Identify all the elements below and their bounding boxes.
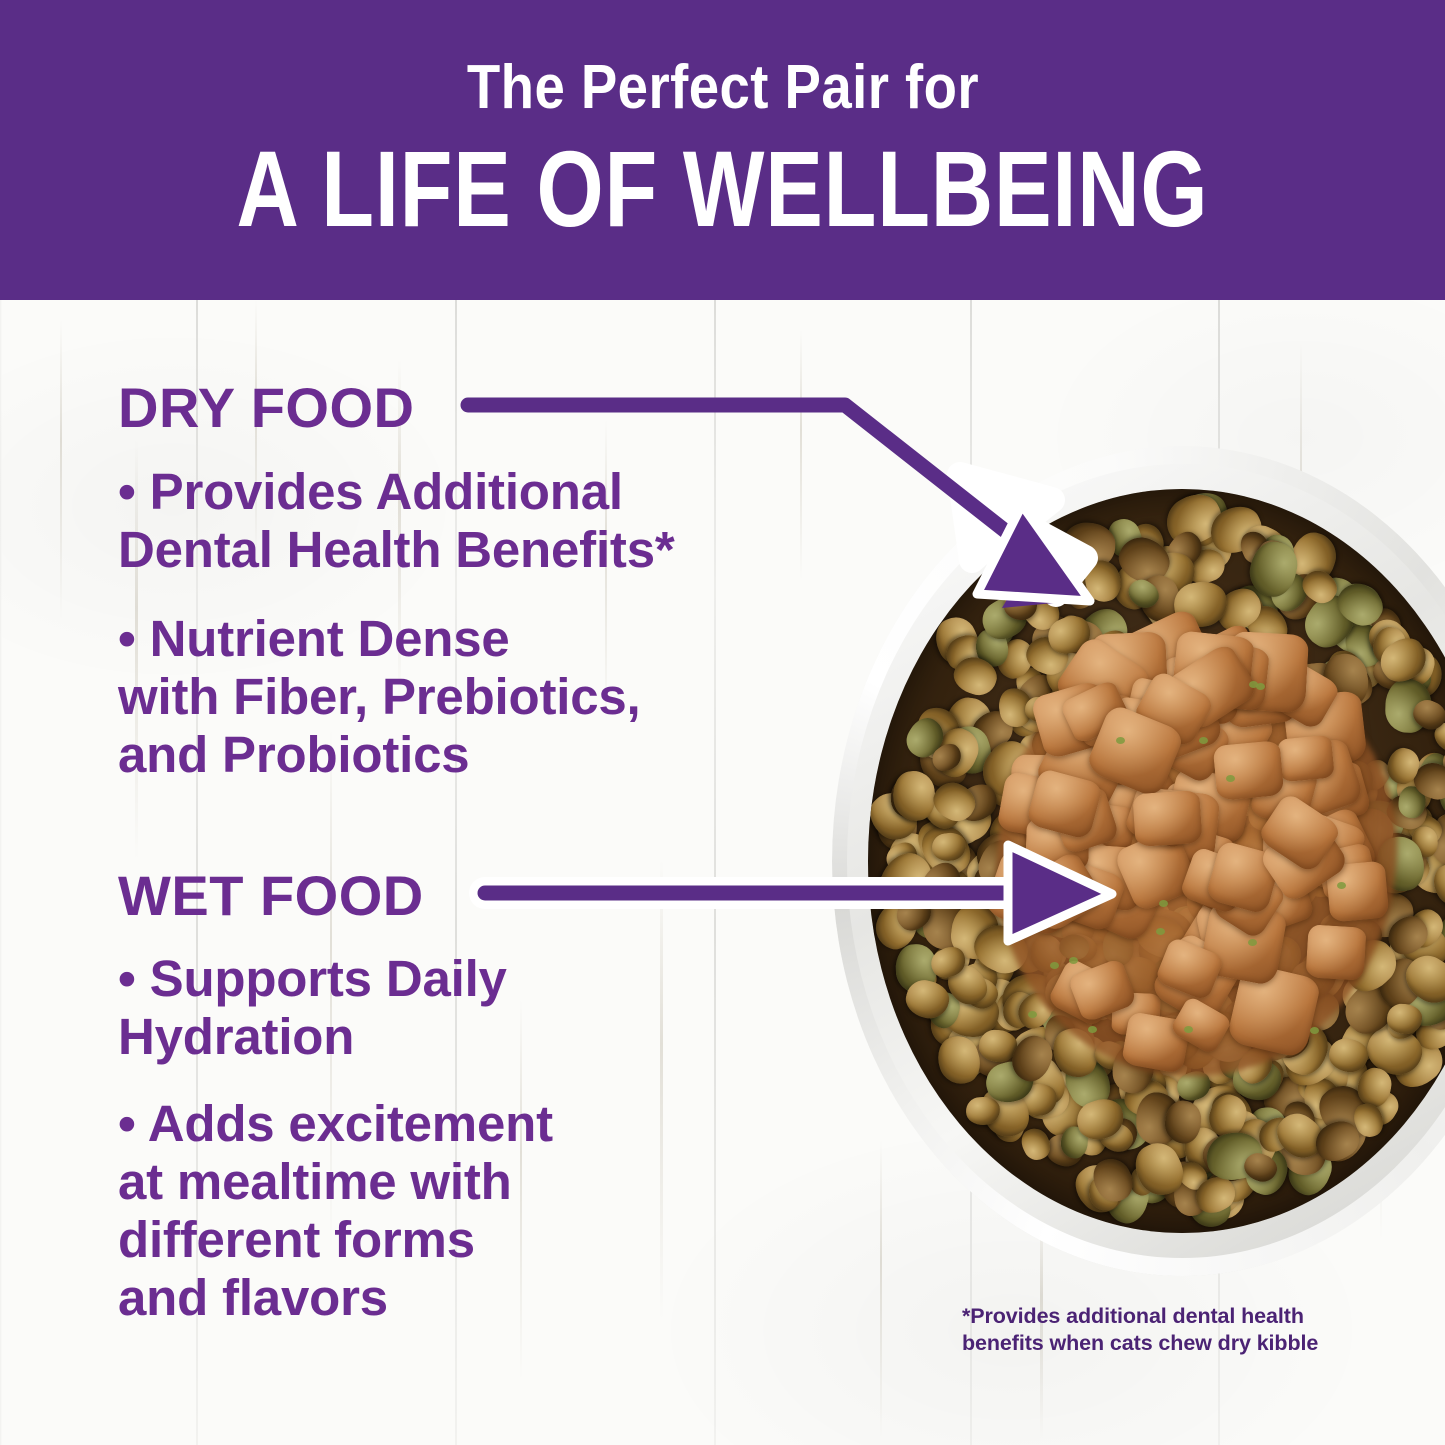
pea-fleck bbox=[1069, 957, 1078, 964]
section-heading-wet-food: WET FOOD bbox=[118, 868, 424, 924]
wet-food-chunk bbox=[1305, 925, 1366, 982]
section-heading-dry-food: DRY FOOD bbox=[118, 380, 414, 436]
bullet-wet-1: • Supports Daily Hydration bbox=[118, 950, 507, 1066]
bullet-wet-2: • Adds excitement at mealtime with diffe… bbox=[118, 1095, 553, 1328]
bullet-line: at mealtime with bbox=[118, 1153, 553, 1211]
bullet-line: Dental Health Benefits* bbox=[118, 521, 675, 579]
banner-title: A LIFE OF WELLBEING bbox=[237, 135, 1209, 243]
bullet-line: different forms bbox=[118, 1211, 553, 1269]
footnote: *Provides additional dental health benef… bbox=[962, 1303, 1392, 1357]
bowl bbox=[832, 446, 1445, 1276]
bullet-line: • Adds excitement bbox=[118, 1095, 553, 1153]
bullet-line: • Supports Daily bbox=[118, 950, 507, 1008]
pet-food-bowl-image bbox=[832, 446, 1445, 1276]
wet-food-chunk bbox=[1277, 734, 1335, 782]
bullet-line: • Provides Additional bbox=[118, 463, 675, 521]
bullet-dry-1: • Provides Additional Dental Health Bene… bbox=[118, 463, 675, 579]
bullet-line: Hydration bbox=[118, 1008, 507, 1066]
bullet-line: and Probiotics bbox=[118, 726, 641, 784]
pea-fleck bbox=[1050, 962, 1059, 969]
header-banner: The Perfect Pair for A LIFE OF WELLBEING bbox=[0, 0, 1445, 300]
wet-food-chunk bbox=[1132, 790, 1202, 848]
bullet-line: and flavors bbox=[118, 1269, 553, 1327]
pea-fleck bbox=[1116, 737, 1125, 744]
pea-fleck bbox=[1199, 737, 1208, 744]
bullet-line: with Fiber, Prebiotics, bbox=[118, 668, 641, 726]
bullet-dry-2: • Nutrient Dense with Fiber, Prebiotics,… bbox=[118, 610, 641, 784]
footnote-line-1: *Provides additional dental health bbox=[962, 1303, 1392, 1330]
pea-fleck bbox=[1028, 1011, 1037, 1018]
banner-subtitle: The Perfect Pair for bbox=[466, 57, 978, 119]
promo-graphic: The Perfect Pair for A LIFE OF WELLBEING bbox=[0, 0, 1445, 1445]
footnote-line-2: benefits when cats chew dry kibble bbox=[962, 1330, 1392, 1357]
wet-food-chunk bbox=[1213, 741, 1284, 802]
bullet-line: • Nutrient Dense bbox=[118, 610, 641, 668]
